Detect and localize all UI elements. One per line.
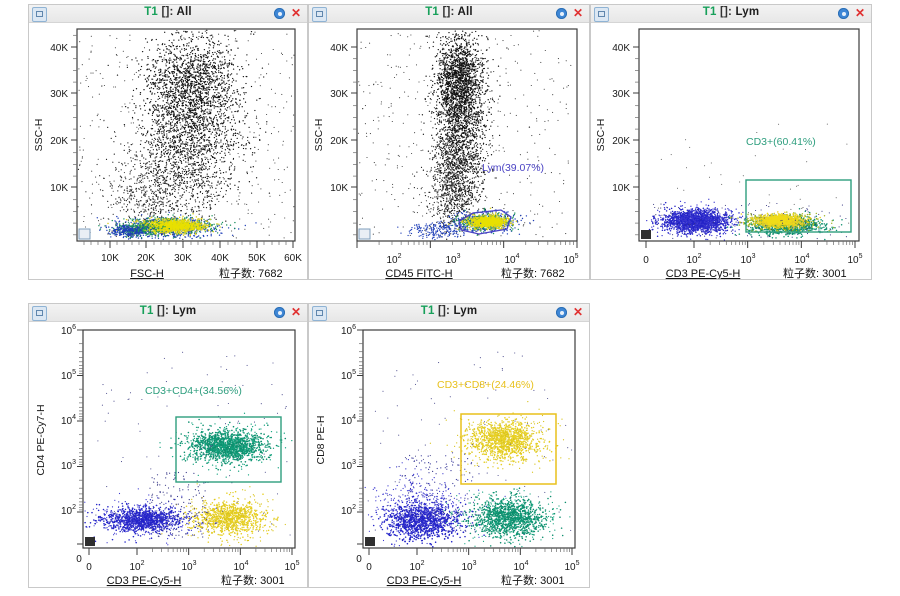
x-tick-labels: 0 102 103 104 105 [86, 560, 299, 573]
close-icon[interactable]: ✕ [855, 6, 865, 21]
y-axis-label: SSC-H [313, 119, 325, 152]
x-axis-ticks [369, 548, 572, 555]
plot-panel-cd4-cd3[interactable]: T1 []: Lym ✕ 106 105 104 103 102 0 CD4 P… [28, 303, 308, 588]
plot-panel-cd8-cd3[interactable]: T1 []: Lym ✕ 106 105 104 103 102 0 CD8 P… [308, 303, 590, 588]
x-tick-labels: 102 103 104 105 [386, 253, 578, 266]
axis-origin-handle[interactable] [359, 229, 370, 239]
panel-title-gate: Lym [453, 305, 477, 317]
y-axis-label: CD4 PE-Cy7-H [35, 404, 47, 475]
gate-label-cd3cd8[interactable]: CD3+CD8+(24.46%) [437, 379, 534, 391]
panel-title-bracket: []: [442, 6, 454, 18]
particle-count: 粒子数: 3001 [501, 573, 565, 587]
panel-title-sample: T1 [421, 305, 435, 317]
panel-title: T1 []: All [309, 6, 589, 18]
x-tick-labels: 0 102 103 104 105 [366, 560, 579, 573]
gear-icon[interactable] [556, 307, 567, 318]
y-axis-label: CD8 PE-H [315, 415, 327, 464]
plot-panel-ssc-cd45[interactable]: T1 []: All ✕ [308, 4, 590, 280]
data-points [78, 30, 295, 240]
panel-title-gate: Lym [735, 6, 759, 18]
y-tick-labels: 106 105 104 103 102 0 [61, 324, 82, 565]
data-points [358, 30, 571, 240]
x-tick-label: 0 [86, 562, 92, 573]
y-tick-label: 20K [612, 136, 630, 147]
axis-origin-handle[interactable] [85, 537, 95, 546]
x-axis-ticks [84, 241, 293, 248]
y-axis-label: SSC-H [33, 119, 45, 152]
x-tick-label: 10K [101, 253, 119, 264]
gear-icon[interactable] [556, 8, 567, 19]
y-tick-label: 30K [330, 89, 348, 100]
y-tick-label: 30K [50, 89, 68, 100]
y-axis-ticks [633, 47, 639, 235]
y-axis-ticks [351, 47, 357, 235]
particle-count: 粒子数: 3001 [221, 573, 285, 587]
gate-label-lym[interactable]: Lym(39.07%) [482, 162, 544, 174]
x-axis-label[interactable]: CD3 PE-Cy5-H [666, 268, 741, 279]
y-tick-label: 20K [330, 136, 348, 147]
plot-area[interactable]: 40K 30K 20K 10K SSC-H 102 103 104 105 CD… [309, 23, 589, 279]
panel-title: T1 []: Lym [309, 305, 589, 317]
plot-panel-ssc-fsc[interactable]: T1 []: All ✕ [28, 4, 308, 280]
panel-title: T1 []: Lym [29, 305, 307, 317]
x-axis-label[interactable]: CD45 FITC-H [385, 268, 452, 279]
scatter-plot-cd8-cd3[interactable]: 106 105 104 103 102 0 CD8 PE-H 0 102 103… [309, 322, 589, 587]
panel-titlebar[interactable]: T1 []: All ✕ [309, 5, 589, 23]
gate-label-cd3[interactable]: CD3+(60.41%) [746, 136, 816, 148]
x-axis-label[interactable]: CD3 PE-Cy5-H [107, 575, 182, 587]
panel-title-sample: T1 [144, 6, 158, 18]
plot-frame [77, 29, 295, 241]
panel-title-sample: T1 [703, 6, 717, 18]
panel-title-gate: All [458, 6, 473, 18]
x-tick-label: 40K [211, 253, 229, 264]
panel-title-bracket: []: [720, 6, 732, 18]
gear-icon[interactable] [274, 307, 285, 318]
y-tick-label: 10K [612, 183, 630, 194]
particle-count: 粒子数: 7682 [501, 266, 565, 279]
y-tick-label: 30K [612, 89, 630, 100]
panel-title: T1 []: All [29, 6, 307, 18]
panel-titlebar[interactable]: T1 []: Lym ✕ [29, 304, 307, 322]
y-tick-label: 40K [50, 43, 68, 54]
x-tick-label: 20K [137, 253, 155, 264]
y-tick-label-zero: 0 [356, 554, 362, 565]
y-tick-label: 20K [50, 136, 68, 147]
panel-title: T1 []: Lym [591, 6, 871, 18]
plot-area[interactable]: 40K 30K 20K 10K SSC-H 0 102 103 104 105 … [591, 23, 871, 279]
particle-count: 粒子数: 3001 [783, 266, 847, 279]
y-axis-ticks [357, 330, 363, 544]
y-axis-label: SSC-H [595, 119, 607, 152]
panel-title-gate: All [177, 6, 192, 18]
data-points [84, 352, 292, 547]
gear-icon[interactable] [274, 8, 285, 19]
panel-title-sample: T1 [425, 6, 439, 18]
axis-origin-handle[interactable] [365, 537, 375, 546]
close-icon[interactable]: ✕ [573, 6, 583, 21]
x-tick-labels: 0 102 103 104 105 [643, 253, 862, 266]
scatter-plot-cd4-cd3[interactable]: 106 105 104 103 102 0 CD4 PE-Cy7-H 0 102… [29, 322, 307, 587]
x-axis-label[interactable]: FSC-H [130, 268, 164, 279]
y-tick-label: 40K [612, 43, 630, 54]
close-icon[interactable]: ✕ [573, 305, 583, 320]
particle-count: 粒子数: 7682 [219, 266, 283, 279]
scatter-plot-ssc-cd45[interactable]: 40K 30K 20K 10K SSC-H 102 103 104 105 CD… [309, 23, 589, 279]
x-axis-ticks [89, 548, 292, 555]
y-tick-label: 40K [330, 43, 348, 54]
x-tick-label: 60K [284, 253, 302, 264]
y-tick-label: 10K [50, 183, 68, 194]
close-icon[interactable]: ✕ [291, 6, 301, 21]
y-tick-label: 10K [330, 183, 348, 194]
panel-title-sample: T1 [140, 305, 154, 317]
x-tick-label: 0 [366, 562, 372, 573]
panel-titlebar[interactable]: T1 []: Lym ✕ [309, 304, 589, 322]
panel-title-gate: Lym [172, 305, 196, 317]
scatter-plot-ssc-fsc[interactable]: 40K 30K 20K 10K SSC-H [29, 23, 307, 279]
panel-titlebar[interactable]: T1 []: Lym ✕ [591, 5, 871, 23]
y-axis-ticks [77, 330, 83, 544]
gear-icon[interactable] [838, 8, 849, 19]
close-icon[interactable]: ✕ [291, 305, 301, 320]
y-tick-labels: 106 105 104 103 102 0 [341, 324, 362, 565]
plot-area[interactable]: 40K 30K 20K 10K SSC-H [29, 23, 307, 279]
x-axis-label[interactable]: CD3 PE-Cy5-H [387, 575, 462, 587]
panel-title-bracket: []: [157, 305, 169, 317]
gate-label-cd3cd4[interactable]: CD3+CD4+(34.56%) [145, 385, 242, 397]
panel-title-bracket: []: [438, 305, 450, 317]
y-tick-label-zero: 0 [76, 554, 82, 565]
panel-title-bracket: []: [161, 6, 173, 18]
x-tick-label: 30K [174, 253, 192, 264]
x-axis-ticks [357, 241, 577, 248]
plot-area[interactable]: 106 105 104 103 102 0 CD8 PE-H 0 102 103… [309, 322, 589, 587]
axis-origin-handle[interactable] [641, 230, 651, 239]
x-axis-ticks [646, 241, 855, 248]
panel-titlebar[interactable]: T1 []: All ✕ [29, 5, 307, 23]
plot-area[interactable]: 106 105 104 103 102 0 CD4 PE-Cy7-H 0 102… [29, 322, 307, 587]
axis-origin-handle[interactable] [79, 229, 90, 239]
y-axis-ticks [71, 35, 77, 235]
x-tick-label: 50K [248, 253, 266, 264]
x-tick-label: 0 [643, 255, 649, 266]
plot-panel-ssc-cd3[interactable]: T1 []: Lym ✕ [590, 4, 872, 280]
plot-frame [639, 29, 859, 241]
scatter-plot-ssc-cd3[interactable]: 40K 30K 20K 10K SSC-H 0 102 103 104 105 … [591, 23, 871, 279]
